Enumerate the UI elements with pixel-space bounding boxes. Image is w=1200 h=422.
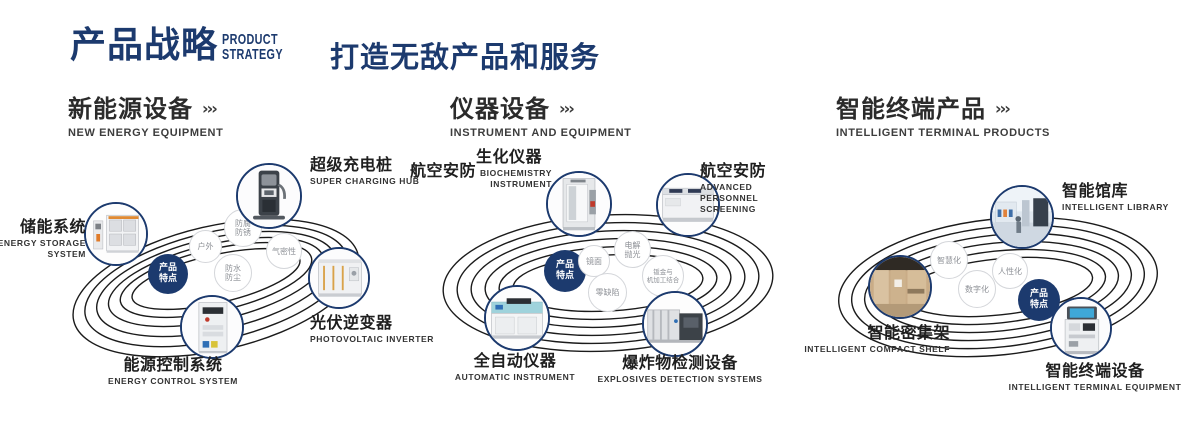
- node-label-intelligent-library: 智能馆库 INTELLIGENT LIBRARY: [1062, 181, 1169, 213]
- inverter-cabinet-icon: [310, 249, 368, 307]
- self-service-kiosk-icon: [1052, 299, 1110, 357]
- library-interior-icon: [992, 187, 1052, 247]
- node-label-terminal-equipment: 智能终端设备 INTELLIGENT TERMINAL EQUIPMENT: [990, 361, 1200, 393]
- node-label-energy-control-system: 能源控制系统 ENERGY CONTROL SYSTEM: [68, 355, 278, 387]
- section-title-cn: 新能源设备›››: [68, 95, 223, 123]
- node-automatic-instrument[interactable]: [484, 285, 550, 351]
- node-biochemistry-instrument[interactable]: [546, 171, 612, 237]
- chevron-right-icon: ›››: [202, 95, 216, 123]
- control-cabinet-icon: [182, 297, 242, 357]
- node-label-compact-shelf: 智能密集架 INTELLIGENT COMPACT SHELF: [790, 323, 950, 355]
- page-title-en-line2: STRATEGY: [222, 47, 283, 62]
- page-title-en-line1: PRODUCT: [222, 32, 283, 47]
- section-title-en: INTELLIGENT TERMINAL PRODUCTS: [836, 127, 1050, 139]
- feature-bubble: 零缺陷: [588, 273, 627, 312]
- node-label-advanced-screening: 航空安防 ADVANCED PERSONNEL SCREENING: [700, 161, 810, 215]
- cluster-instrument: 产品 特点 镜面 电解抛光 零缺陷 钣金与机加工结合: [410, 155, 810, 405]
- node-label-energy-storage: 储能系统 ENERGY STORAGE SYSTEM: [0, 217, 86, 260]
- cluster-intelligent-terminal: 智慧化 数字化 人性化 产品 特点: [800, 155, 1200, 405]
- charging-pile-icon: [238, 165, 300, 227]
- feature-bubble: 户外: [189, 230, 222, 263]
- page-title-en: PRODUCT STRATEGY: [222, 32, 283, 62]
- biochemistry-scanner-icon: [548, 173, 610, 235]
- chevron-right-icon: ›››: [559, 95, 573, 123]
- section-title-cn: 智能终端产品›››: [836, 95, 1050, 123]
- section-heading-intelligent-terminal: 智能终端产品››› INTELLIGENT TERMINAL PRODUCTS: [836, 95, 1050, 139]
- automatic-analyzer-icon: [486, 287, 548, 349]
- compact-shelf-icon: [870, 257, 930, 317]
- page-title-cn: 产品战略: [70, 26, 218, 66]
- feature-bubble: 人性化: [992, 253, 1028, 289]
- section-heading-new-energy: 新能源设备››› NEW ENERGY EQUIPMENT: [68, 95, 223, 139]
- node-terminal-equipment[interactable]: [1050, 297, 1112, 359]
- node-explosives-detection[interactable]: [642, 291, 708, 357]
- feature-bubble: 数字化: [958, 270, 996, 308]
- node-compact-shelf[interactable]: [868, 255, 932, 319]
- feature-bubble: 防水防尘: [214, 254, 252, 292]
- node-energy-storage[interactable]: [84, 202, 148, 266]
- page-subtitle-cn: 打造无敌产品和服务: [330, 34, 600, 76]
- explosives-detector-icon: [644, 293, 706, 355]
- feature-bubble: 气密性: [266, 233, 302, 269]
- node-label-explosives-detection: 爆炸物检测设备 EXPLOSIVES DETECTION SYSTEMS: [580, 353, 780, 385]
- section-title-en: INSTRUMENT AND EQUIPMENT: [450, 127, 631, 139]
- cluster-new-energy: 产品 特点 户外 防腐防锈 防水防尘 气密性: [20, 155, 420, 405]
- section-heading-instrument: 仪器设备››› INSTRUMENT AND EQUIPMENT: [450, 95, 631, 139]
- feature-bubble: 智慧化: [930, 241, 968, 279]
- page-header: 产品战略 PRODUCT STRATEGY 打造无敌产品和服务: [0, 0, 1200, 92]
- energy-storage-cabinet-icon: [86, 204, 146, 264]
- node-charging-hub[interactable]: [236, 163, 302, 229]
- section-title-en: NEW ENERGY EQUIPMENT: [68, 127, 223, 139]
- node-intelligent-library[interactable]: [990, 185, 1054, 249]
- core-bubble: 产品 特点: [148, 254, 188, 294]
- node-label-biochemistry-instrument: 生化仪器 BIOCHEMISTRY INSTRUMENT: [476, 147, 552, 190]
- node-label-aviation-security-left: 航空安防: [410, 161, 476, 180]
- chevron-right-icon: ›››: [995, 95, 1009, 123]
- node-energy-control-system[interactable]: [180, 295, 244, 359]
- node-photovoltaic-inverter[interactable]: [308, 247, 370, 309]
- node-label-charging-hub: 超级充电桩 SUPER CHARGING HUB: [310, 155, 420, 187]
- section-title-cn: 仪器设备›››: [450, 95, 631, 123]
- product-strategy-infographic: 产品战略 PRODUCT STRATEGY 打造无敌产品和服务 新能源设备›››…: [0, 0, 1200, 422]
